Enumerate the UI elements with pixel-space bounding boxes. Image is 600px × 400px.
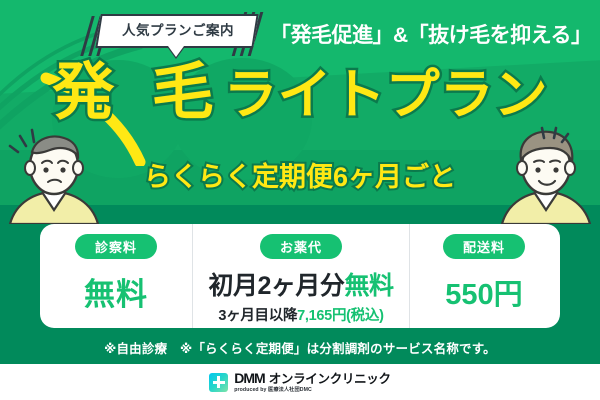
medical-cross-icon — [209, 373, 228, 392]
character-left-worried-man — [2, 128, 106, 224]
character-right-smiling-man — [498, 126, 600, 224]
pricing-column-shipping: 配送料 550円 — [410, 224, 558, 328]
pricing-column-consultation: 診察料 無料 — [40, 224, 192, 328]
footer-tagline: produced by 医療法人社団DMC — [234, 388, 390, 393]
pricing-value-shipping: 550円 — [445, 271, 522, 313]
medicine-sub-highlight: 7,165円(税込) — [297, 308, 383, 324]
pricing-badge-medicine: お薬代 — [260, 234, 342, 259]
kicker-text: 「発毛促進」&「抜け毛を抑える」 — [270, 19, 590, 49]
main-title-part1: 発 毛 — [52, 58, 223, 127]
medicine-sub-prefix: 3ヶ月目以降 — [218, 308, 297, 324]
footer-brand-name: DMM — [234, 371, 264, 385]
main-title: 発 毛ライトプラン — [0, 62, 600, 124]
footer-logo-row: DMM オンラインクリニック — [234, 371, 390, 386]
medicine-main-highlight: 無料 — [344, 272, 393, 300]
medicine-main-prefix: 初月2ヶ月分 — [209, 272, 345, 300]
main-title-part2: ライトプラン — [224, 65, 548, 125]
pricing-badge-shipping: 配送料 — [443, 234, 525, 259]
ribbon-tail-icon — [168, 46, 184, 57]
footer-brand-jp: オンラインクリニック — [269, 373, 391, 386]
ribbon-label: 人気プランご案内 — [104, 19, 252, 39]
footer-logo-text: DMM オンラインクリニック produced by 医療法人社団DMC — [234, 371, 390, 393]
pricing-card: 診察料 無料 お薬代 初月2ヶ月分無料 3ヶ月目以降7,165円(税込) 配送料… — [40, 224, 560, 328]
promo-banner: 人気プランご案内 「発毛促進」&「抜け毛を抑える」 発 毛ライトプラン らくらく… — [0, 0, 600, 400]
pricing-column-medicine: お薬代 初月2ヶ月分無料 3ヶ月目以降7,165円(税込) — [192, 224, 410, 328]
pricing-value-medicine-sub: 3ヶ月目以降7,165円(税込) — [218, 304, 383, 325]
pricing-value-medicine-main: 初月2ヶ月分無料 — [209, 266, 394, 302]
footer-logo-area: DMM オンラインクリニック produced by 医療法人社団DMC — [0, 364, 600, 400]
disclaimer-text: ※自由診療 ※「らくらく定期便」は分割調剤のサービス名称です。 — [0, 338, 600, 357]
pricing-badge-consultation: 診察料 — [75, 234, 157, 259]
pricing-value-consultation: 無料 — [84, 269, 148, 314]
